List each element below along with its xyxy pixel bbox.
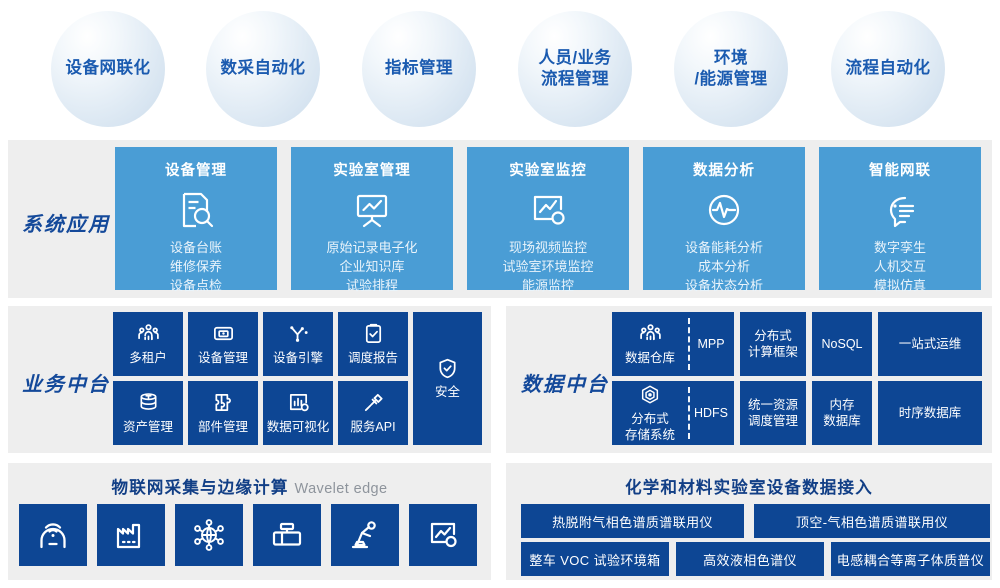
shield-check-icon [436, 356, 460, 380]
desc-line-1: 企业知识库 [326, 258, 417, 277]
bubble-4-line-0: 环境 [694, 48, 767, 69]
iot-icon-tile-iot-network[interactable] [175, 504, 243, 566]
pulse-circle-icon [703, 189, 745, 231]
bubble-3-line-0: 人员/业务 [538, 48, 611, 69]
bubble-1[interactable]: 数采自动化 [206, 11, 320, 127]
lab-section-heading: 化学和材料实验室设备数据接入 [506, 474, 992, 498]
desc-line-0: 现场视频监控 [502, 239, 593, 258]
iot-section-heading: 物联网采集与边缘计算Wavelet edge [8, 474, 491, 498]
tile-label: NoSQL [822, 336, 863, 352]
device-box-icon [211, 322, 235, 346]
tile-label: 分布式 存储系统 [625, 411, 675, 444]
desc-line-0: 原始记录电子化 [326, 239, 417, 258]
desc-line-2: 试验排程 [326, 277, 417, 296]
sys-card-title: 实验室监控 [509, 159, 587, 180]
iot-network-icon [192, 518, 226, 552]
tile-component-management[interactable]: 部件管理 [188, 381, 258, 445]
tile-label: 时序数据库 [899, 405, 962, 421]
sys-card-lab-monitoring[interactable]: 实验室监控 现场视频监控 试验室环境监控 能源监控 [467, 147, 629, 290]
pill-label: 电感耦合等离子体质普仪 [837, 550, 984, 569]
presentation-chart-icon [351, 189, 393, 231]
tile-label: 安全 [435, 384, 460, 400]
iot-icon-tile-factory[interactable] [97, 504, 165, 566]
puzzle-icon [211, 391, 235, 415]
tile-one-stop-ops[interactable]: 一站式运维 [878, 312, 982, 376]
business-platform-label: 业务中台 [22, 368, 110, 397]
bubble-2[interactable]: 指标管理 [362, 11, 476, 127]
tile-label: 调度报告 [348, 350, 398, 366]
tile-line-1: 存储系统 [625, 427, 675, 443]
lab-title-cn: 化学和材料实验室设备数据接入 [625, 479, 873, 497]
clipboard-check-icon [361, 322, 385, 346]
sys-card-desc: 数字孪生 人机交互 模拟仿真 [874, 239, 926, 296]
tile-line-1: 调度管理 [748, 413, 798, 429]
iot-icon-tile-monitor-chart[interactable] [409, 504, 477, 566]
sys-card-title: 设备管理 [165, 159, 227, 180]
tile-label: 资产管理 [123, 419, 173, 435]
iot-icon-tile-sensor-device[interactable] [253, 504, 321, 566]
capability-bubble-row: 设备网联化 数采自动化 指标管理 人员/业务 流程管理 环境 /能源管理 流程自… [0, 0, 1000, 138]
pill-label: 顶空-气相色谱质谱联用仪 [796, 512, 948, 531]
tile-label: 设备引擎 [273, 350, 323, 366]
lab-pill-icp-ms[interactable]: 电感耦合等离子体质普仪 [831, 542, 990, 576]
bubble-4[interactable]: 环境 /能源管理 [674, 11, 788, 127]
lab-pill-headspace-gcms[interactable]: 顶空-气相色谱质谱联用仪 [754, 504, 990, 538]
tile-label: HDFS [694, 405, 728, 421]
tile-line-1: 数据库 [823, 413, 861, 429]
tile-mpp[interactable]: MPP [688, 312, 734, 376]
ai-head-icon [879, 189, 921, 231]
document-search-icon [175, 189, 217, 231]
tile-service-api[interactable]: 服务API [338, 381, 408, 445]
tile-line-0: 分布式 [748, 328, 798, 344]
multi-tenant-icon [136, 322, 160, 346]
plug-link-icon [361, 391, 385, 415]
desc-line-1: 成本分析 [685, 258, 763, 277]
tile-label: 内存 数据库 [823, 397, 861, 430]
sys-card-data-analysis[interactable]: 数据分析 设备能耗分析 成本分析 设备状态分析 [643, 147, 805, 290]
iot-icon-tile-wifi-gateway[interactable] [19, 504, 87, 566]
system-application-label: 系统应用 [22, 208, 110, 237]
sys-card-smart-connected[interactable]: 智能网联 数字孪生 人机交互 模拟仿真 [819, 147, 981, 290]
desc-line-0: 设备能耗分析 [685, 239, 763, 258]
bubble-4-line-1: /能源管理 [694, 69, 767, 90]
desc-line-2: 设备点检 [170, 277, 222, 296]
lab-pill-vehicle-voc-chamber[interactable]: 整车 VOC 试验环境箱 [521, 542, 669, 576]
desc-line-1: 试验室环境监控 [502, 258, 593, 277]
bubble-0-line-0: 设备网联化 [66, 58, 151, 79]
bubble-5-line-0: 流程自动化 [846, 58, 931, 79]
sys-card-title: 实验室管理 [333, 159, 411, 180]
tile-label: 数据仓库 [625, 350, 675, 366]
factory-icon [114, 518, 148, 552]
tile-label: 统一资源 调度管理 [748, 397, 798, 430]
data-warehouse-divider [688, 318, 690, 370]
monitor-chart-icon [426, 518, 460, 552]
sys-card-desc: 设备台账 维修保养 设备点检 [170, 239, 222, 296]
bubble-3[interactable]: 人员/业务 流程管理 [518, 11, 632, 127]
bubble-3-line-1: 流程管理 [538, 69, 611, 90]
node-graph-icon [286, 322, 310, 346]
tile-label: MPP [697, 336, 724, 352]
desc-line-0: 数字孪生 [874, 239, 926, 258]
sys-card-desc: 设备能耗分析 成本分析 设备状态分析 [685, 239, 763, 296]
iot-icon-tile-robot-arm[interactable] [331, 504, 399, 566]
lab-pill-thermal-desorption-gcms[interactable]: 热脱附气相色谱质谱联用仪 [521, 504, 744, 538]
bubble-0[interactable]: 设备网联化 [51, 11, 165, 127]
tile-security[interactable]: 安全 [413, 312, 482, 445]
distributed-storage-divider [688, 387, 690, 439]
tile-device-engine[interactable]: 设备引擎 [263, 312, 333, 376]
tile-nosql[interactable]: NoSQL [812, 312, 872, 376]
tile-label: 服务API [350, 419, 395, 435]
tile-distributed-compute[interactable]: 分布式 计算框架 [740, 312, 806, 376]
chart-board-icon [286, 391, 310, 415]
monitor-chart-icon [527, 189, 569, 231]
tile-line-1: 计算框架 [748, 344, 798, 360]
bubble-1-line-0: 数采自动化 [221, 58, 306, 79]
tile-asset-management[interactable]: 资产管理 [113, 381, 183, 445]
tile-label: 设备管理 [198, 350, 248, 366]
tile-data-visualization[interactable]: 数据可视化 [263, 381, 333, 445]
sys-card-lab-management[interactable]: 实验室管理 原始记录电子化 企业知识库 试验排程 [291, 147, 453, 290]
tile-hdfs[interactable]: HDFS [688, 381, 734, 445]
sys-card-title: 智能网联 [869, 159, 931, 180]
desc-line-2: 能源监控 [502, 277, 593, 296]
tile-data-warehouse[interactable]: 数据仓库 [612, 312, 688, 376]
tile-label: 数据可视化 [267, 419, 330, 435]
pill-label: 整车 VOC 试验环境箱 [529, 550, 660, 569]
tile-timeseries-db[interactable]: 时序数据库 [878, 381, 982, 445]
pill-label: 高效液相色谱仪 [703, 550, 797, 569]
desc-line-1: 维修保养 [170, 258, 222, 277]
database-coin-icon [136, 391, 160, 415]
tile-label: 一站式运维 [899, 336, 962, 352]
multi-tenant-icon [638, 322, 662, 346]
sensor-device-icon [270, 518, 304, 552]
tile-multi-tenant[interactable]: 多租户 [113, 312, 183, 376]
desc-line-2: 模拟仿真 [874, 277, 926, 296]
tile-dispatch-report[interactable]: 调度报告 [338, 312, 408, 376]
bubble-2-line-0: 指标管理 [385, 58, 453, 79]
iot-title-en: Wavelet edge [295, 481, 388, 497]
lab-pill-hplc[interactable]: 高效液相色谱仪 [676, 542, 824, 576]
sys-card-device-management[interactable]: 设备管理 设备台账 维修保养 设备点检 [115, 147, 277, 290]
tile-label: 部件管理 [198, 419, 248, 435]
tile-line-0: 分布式 [625, 411, 675, 427]
sys-card-desc: 现场视频监控 试验室环境监控 能源监控 [502, 239, 593, 296]
desc-line-1: 人机交互 [874, 258, 926, 277]
sys-card-title: 数据分析 [693, 159, 755, 180]
tile-line-0: 内存 [823, 397, 861, 413]
data-platform-label: 数据中台 [521, 368, 609, 397]
desc-line-2: 设备状态分析 [685, 277, 763, 296]
sys-card-desc: 原始记录电子化 企业知识库 试验排程 [326, 239, 417, 296]
pill-label: 热脱附气相色谱质谱联用仪 [552, 512, 713, 531]
tile-unified-resource-scheduling[interactable]: 统一资源 调度管理 [740, 381, 806, 445]
hexagon-layers-icon [638, 383, 662, 407]
desc-line-0: 设备台账 [170, 239, 222, 258]
bubble-5[interactable]: 流程自动化 [831, 11, 945, 127]
wifi-gateway-icon [36, 518, 70, 552]
robot-arm-icon [348, 518, 382, 552]
tile-label: 多租户 [129, 350, 167, 366]
tile-distributed-storage[interactable]: 分布式 存储系统 [612, 381, 688, 445]
tile-device-management[interactable]: 设备管理 [188, 312, 258, 376]
iot-title-cn: 物联网采集与边缘计算 [112, 479, 289, 497]
tile-in-memory-db[interactable]: 内存 数据库 [812, 381, 872, 445]
tile-label: 分布式 计算框架 [748, 328, 798, 361]
tile-line-0: 统一资源 [748, 397, 798, 413]
